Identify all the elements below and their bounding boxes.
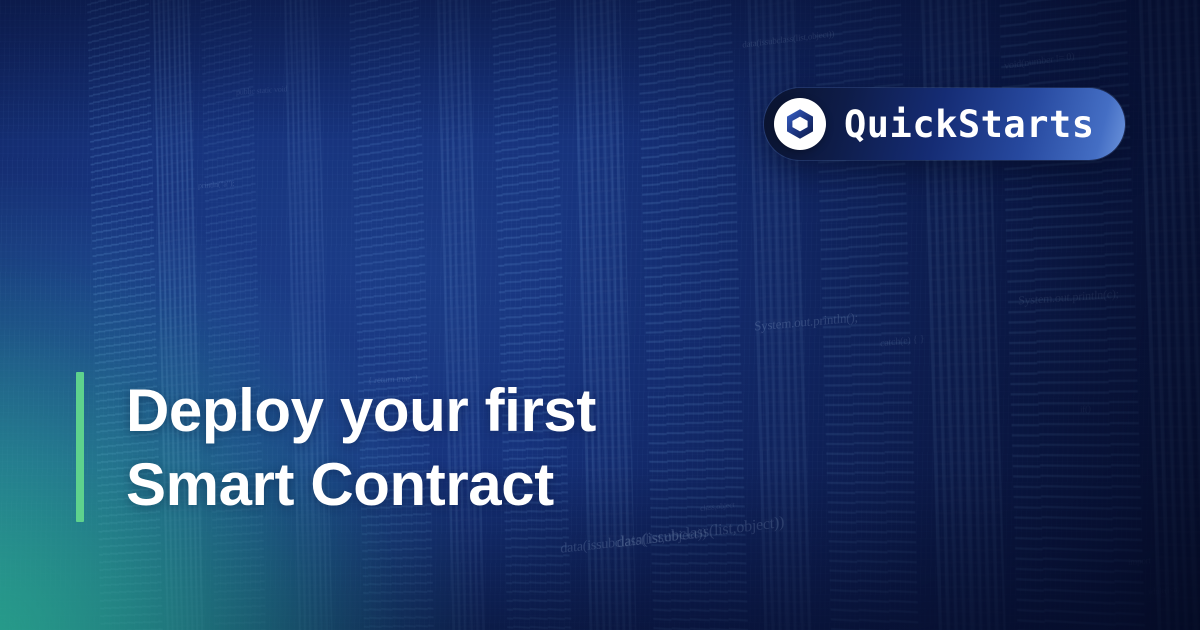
hero-title-block: Deploy your first Smart Contract [76, 372, 596, 522]
chainlink-hexagon-icon [774, 98, 826, 150]
quickstarts-badge[interactable]: QuickStarts [764, 88, 1125, 160]
hero-title: Deploy your first Smart Contract [126, 372, 596, 522]
hero-banner: data(issubclass(list,object))void(number… [0, 0, 1200, 630]
green-accent-bar [76, 372, 84, 522]
quickstarts-label: QuickStarts [844, 106, 1095, 143]
hero-title-line-2: Smart Contract [126, 448, 596, 522]
hero-title-line-1: Deploy your first [126, 374, 596, 448]
